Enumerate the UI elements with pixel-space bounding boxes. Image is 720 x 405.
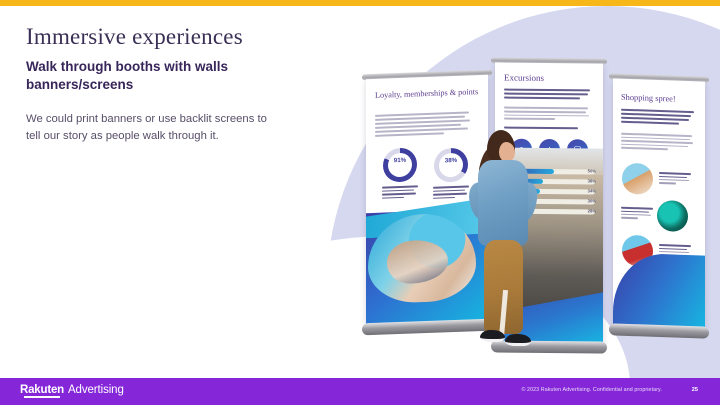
person-viewing-banners [470,130,536,358]
banner-title-loyalty: Loyalty, memberships & points [375,87,478,101]
stand-base-bar [609,323,709,338]
banner-title-excursions: Excursions [504,73,544,83]
donut-caption-left [382,185,418,201]
page-title: Immersive experiences [26,24,326,50]
bar-value-3: 34% [588,188,596,193]
donut-value-91: 91% [383,157,417,165]
rakuten-advertising-logo: Rakuten Advertising [20,384,124,396]
bar-value-1: 50% [588,168,596,173]
bar-value-4: 30% [588,198,596,203]
banner-stand-shopping: Shopping spree! [613,78,705,329]
copyright-text: © 2023 Rakuten Advertising. Confidential… [521,387,662,393]
photo-caption-1 [659,172,691,187]
top-accent-bar [0,0,720,6]
advertising-wordmark: Advertising [68,384,124,396]
bar-value-2: 38% [588,178,596,183]
left-shoe [480,330,505,342]
banner-body-lines [621,133,695,154]
donut-chart-91: 91% [383,147,417,182]
banner-wave-gradient [613,252,705,329]
bar-value-5: 28% [588,208,596,213]
rakuten-wordmark: Rakuten [20,384,64,396]
face [499,142,515,162]
banner-body-lines [375,111,473,139]
right-shoe [505,334,531,346]
banner-lead-lines [621,109,695,127]
slide-body-text: We could print banners or use backlit sc… [26,111,276,144]
page-number: 25 [692,387,698,393]
photo-circle-sports [622,163,653,195]
donut-chart-38: 38% [434,147,468,182]
banner-panel-shopping: Shopping spree! [613,78,705,329]
photo-caption-2 [621,207,653,222]
slide-footer: Rakuten Advertising © 2023 Rakuten Adver… [0,378,720,405]
banner-title-shopping: Shopping spree! [621,93,676,104]
donut-caption-right [433,185,469,201]
photo-circle-night [657,200,688,232]
banner-lead-lines [504,89,592,102]
slide-canvas: Immersive experiences Walk through booth… [0,0,720,405]
text-column: Immersive experiences Walk through booth… [26,24,326,145]
slide-subtitle: Walk through booths with walls banners/s… [26,58,272,94]
donut-value-38: 38% [434,157,468,165]
denim-shirt [478,160,528,246]
banner-body-lines [504,107,592,123]
